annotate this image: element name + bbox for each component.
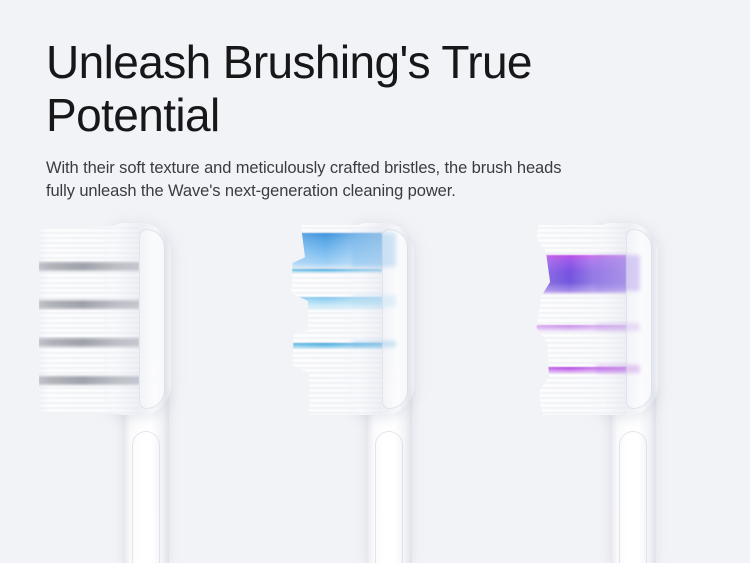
- bristle-highlight: [35, 225, 139, 415]
- stripe-showthrough: [596, 255, 640, 291]
- stripe-showthrough: [596, 323, 640, 331]
- brush-bristle-field: [522, 225, 626, 415]
- stripe-showthrough: [352, 233, 396, 267]
- brush-bristle-field: [35, 225, 139, 415]
- page-title: Unleash Brushing's True Potential: [46, 36, 686, 143]
- brush-head-product-3[interactable]: [522, 215, 737, 563]
- page-subtitle: With their soft texture and meticulously…: [46, 157, 686, 204]
- stripe-showthrough: [596, 365, 640, 373]
- product-feature-page: Unleash Brushing's True Potential With t…: [0, 0, 750, 563]
- brush-head-product-2[interactable]: [278, 215, 493, 563]
- stripe-showthrough: [352, 295, 396, 307]
- hero-text-block: Unleash Brushing's True Potential With t…: [46, 36, 686, 204]
- stripe-showthrough: [352, 341, 396, 347]
- brush-head-product-1[interactable]: [35, 215, 250, 563]
- brush-head-gallery: [0, 215, 750, 563]
- bristle-highlight: [522, 225, 626, 415]
